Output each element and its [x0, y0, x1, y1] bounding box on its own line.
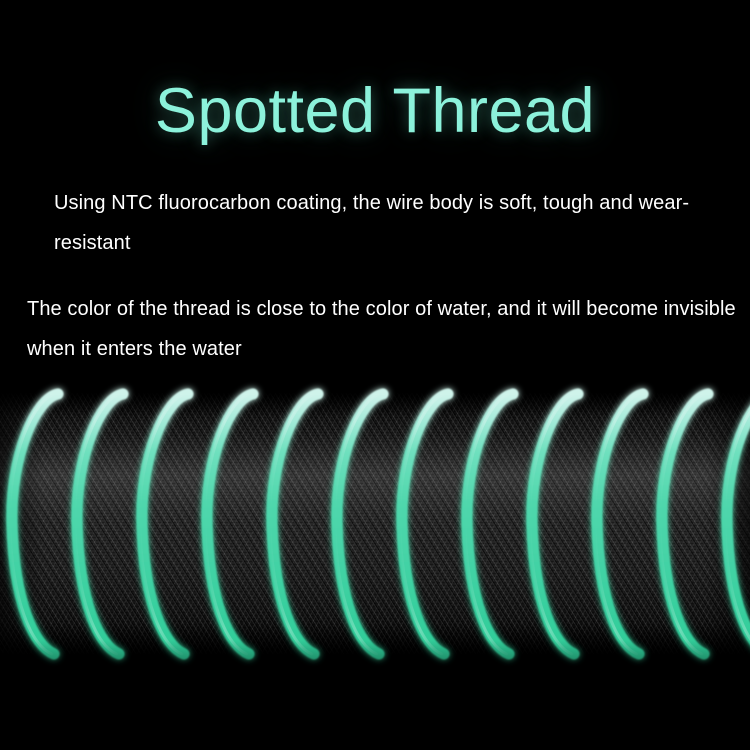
product-banner: Spotted Thread Using NTC fluorocarbon co… [0, 0, 750, 750]
carbon-fiber-spool [0, 393, 750, 655]
feature-description-coating: Using NTC fluorocarbon coating, the wire… [54, 183, 714, 263]
page-title: Spotted Thread [0, 78, 750, 144]
product-photo [0, 370, 750, 750]
carbon-weave-texture [0, 393, 750, 655]
feature-description-invisibility: The color of the thread is close to the … [27, 289, 739, 369]
photo-bottom-fade [0, 640, 750, 750]
